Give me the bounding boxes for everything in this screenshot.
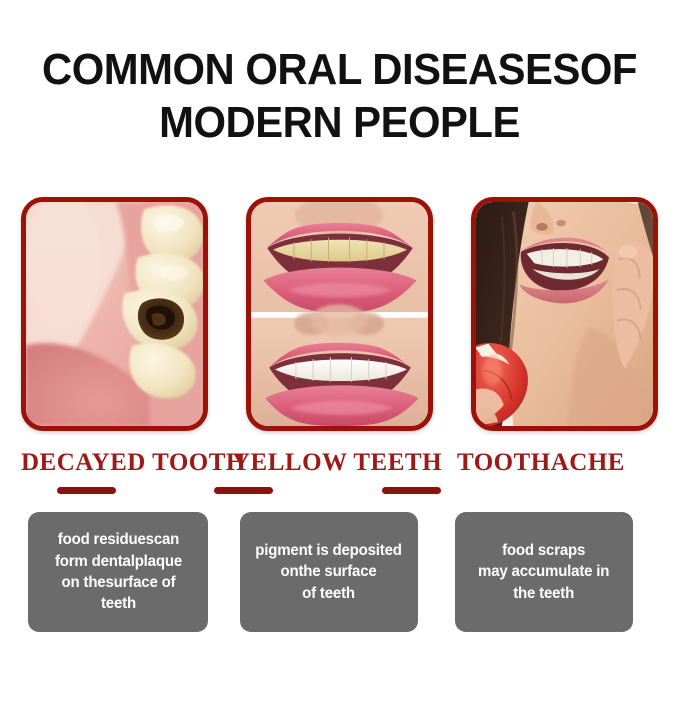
- yellow-teeth-before-after-photo: [251, 202, 428, 426]
- decayed-molar-photo: [26, 202, 203, 426]
- photo-frame-toothache: [471, 197, 658, 431]
- caption-text-toothache: food scraps may accumulate in the teeth: [478, 540, 609, 604]
- photo-frame-decayed-tooth: [21, 197, 208, 431]
- label-underline-toothache: [382, 487, 441, 494]
- disease-label-yellow-teeth: YELLOW TEETH: [232, 450, 442, 476]
- label-underline-yellow-teeth: [214, 487, 273, 494]
- disease-card-toothache: [471, 197, 658, 431]
- caption-text-yellow-teeth: pigment is deposited onthe surface of te…: [256, 540, 402, 604]
- caption-box-toothache: food scraps may accumulate in the teeth: [455, 512, 633, 632]
- label-underline-row: [0, 487, 679, 495]
- caption-box-yellow-teeth: pigment is deposited onthe surface of te…: [240, 512, 418, 632]
- caption-text-decayed-tooth: food residuescan form dentalplaque on th…: [54, 529, 181, 615]
- label-underline-decayed-tooth: [57, 487, 116, 494]
- disease-label-row: DECAYED TOOTH YELLOW TEETH TOOTHACHE: [0, 450, 679, 476]
- caption-box-row: food residuescan form dentalplaque on th…: [0, 512, 679, 634]
- page-title-line-1: COMMON ORAL DISEASESOF: [17, 48, 662, 93]
- toothache-woman-apple-photo: [476, 202, 653, 426]
- page-title: COMMON ORAL DISEASESOF MODERN PEOPLE: [0, 48, 679, 146]
- disease-card-row: [21, 197, 658, 431]
- disease-card-decayed-tooth: [21, 197, 208, 431]
- disease-card-yellow-teeth: [246, 197, 433, 431]
- photo-frame-yellow-teeth: [246, 197, 433, 431]
- disease-label-toothache: TOOTHACHE: [457, 450, 625, 476]
- caption-box-decayed-tooth: food residuescan form dentalplaque on th…: [28, 512, 208, 632]
- page-title-line-2: MODERN PEOPLE: [17, 101, 662, 146]
- disease-label-decayed-tooth: DECAYED TOOTH: [21, 450, 246, 476]
